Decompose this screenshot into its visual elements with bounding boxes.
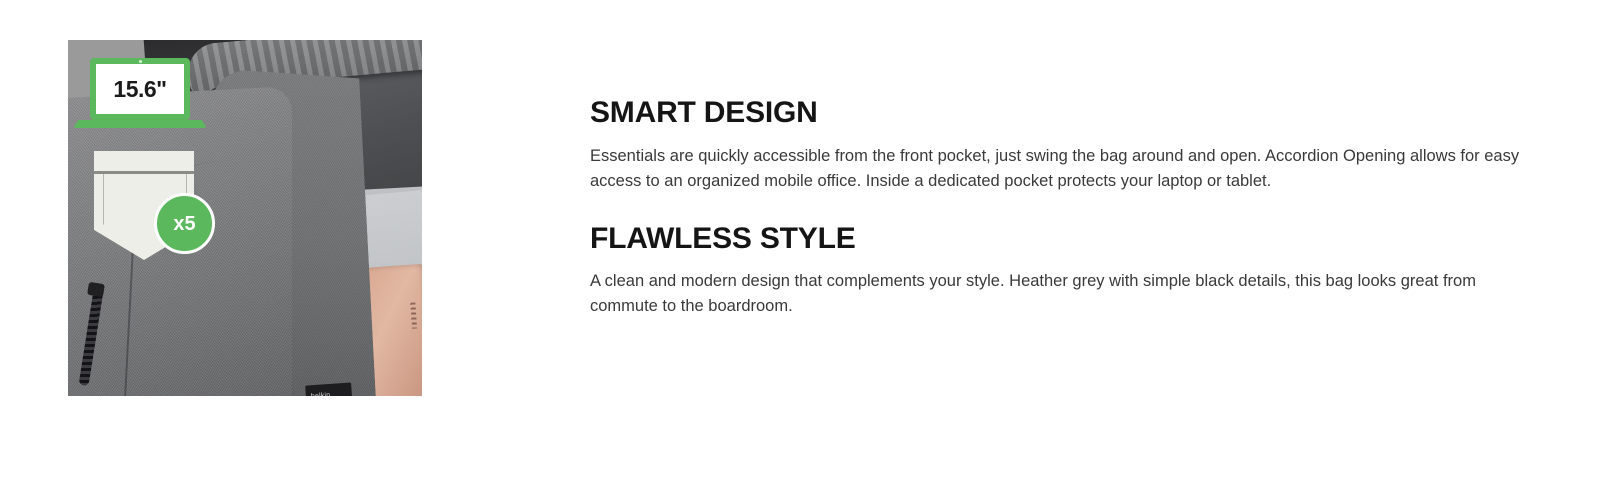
brand-label-text: belkin xyxy=(311,392,331,396)
media-column: belkin 15.6" x5 xyxy=(68,40,422,396)
laptop-base-icon xyxy=(73,120,207,128)
feature-block-flawless-style: FLAWLESS STYLE A clean and modern design… xyxy=(590,222,1550,320)
brand-label: belkin xyxy=(305,382,353,396)
feature-body: Essentials are quickly accessible from t… xyxy=(590,144,1545,194)
product-feature-section: belkin 15.6" x5 xyxy=(0,0,1622,484)
product-photo: belkin 15.6" x5 xyxy=(68,40,422,396)
feature-block-smart-design: SMART DESIGN Essentials are quickly acce… xyxy=(590,96,1550,194)
laptop-size-badge: 15.6" xyxy=(90,58,202,128)
zipper-pull-icon xyxy=(87,282,105,297)
laptop-camera-icon xyxy=(139,60,142,63)
pocket-count-badge: x5 xyxy=(154,193,215,254)
laptop-size-label: 15.6" xyxy=(113,78,166,101)
feature-body: A clean and modern design that complemen… xyxy=(590,269,1545,319)
pocket-count-label: x5 xyxy=(173,214,195,234)
feature-heading: SMART DESIGN xyxy=(590,96,1550,131)
tablet-speaker-icon xyxy=(410,302,417,328)
laptop-icon: 15.6" xyxy=(90,58,190,120)
feature-heading: FLAWLESS STYLE xyxy=(590,222,1550,257)
feature-copy-column: SMART DESIGN Essentials are quickly acce… xyxy=(590,96,1550,319)
